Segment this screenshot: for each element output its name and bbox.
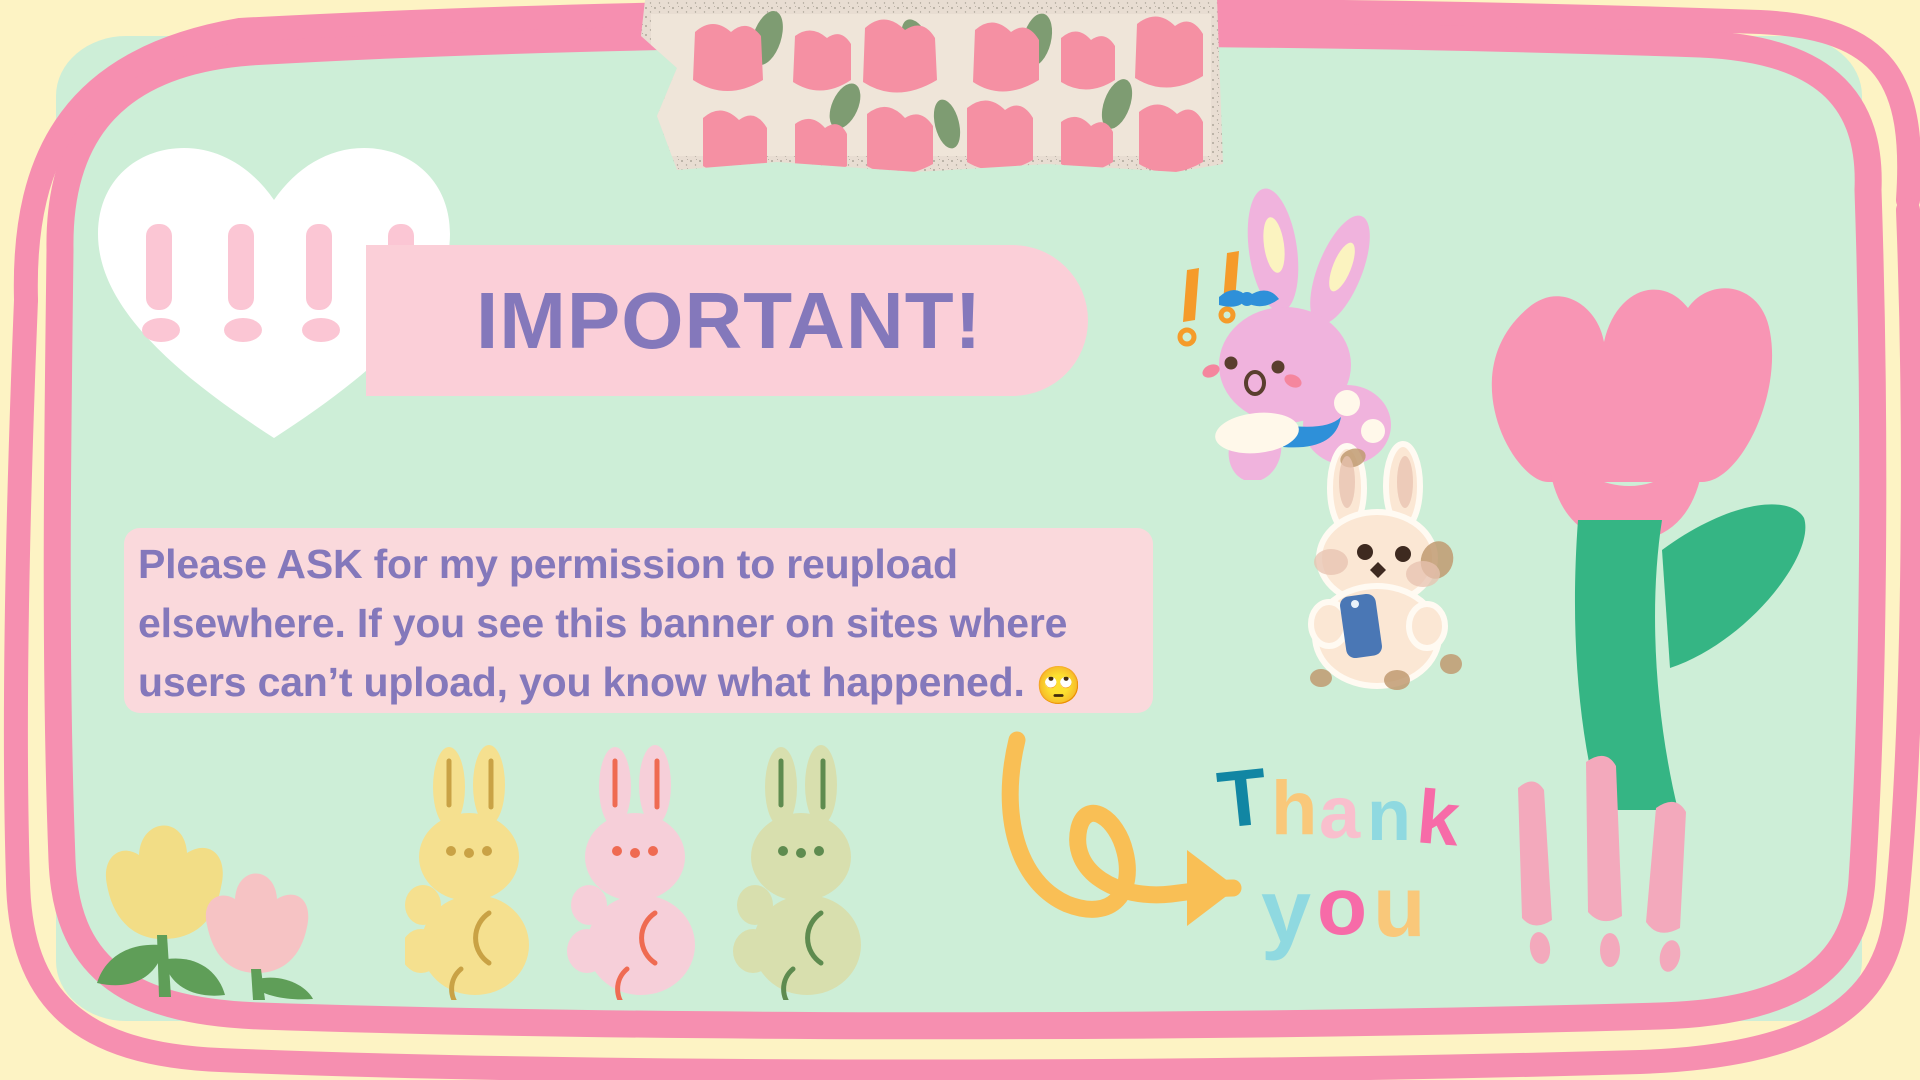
small-tulip-pair <box>95 745 395 1000</box>
ty-letter-h: h <box>1271 766 1317 851</box>
body-line-2: elsewhere. If you see this banner on sit… <box>138 594 1178 653</box>
peep-bunny-yellow <box>405 745 529 1000</box>
body-line-3: users can’t upload, you know what happen… <box>138 653 1178 715</box>
ty-letter-a: a <box>1319 771 1361 854</box>
important-banner: IMPORTANT! Please ASK for my permission … <box>0 0 1920 1080</box>
page-title: IMPORTANT! <box>476 271 1096 371</box>
ty-letter-n: n <box>1367 776 1411 856</box>
pink-exclamation-strokes <box>1490 740 1780 1000</box>
body-line-3-text: users can’t upload, you know what happen… <box>138 659 1025 705</box>
tulip-washi-tape <box>617 0 1241 174</box>
body-line-1: Please ASK for my permission to reupload <box>138 535 1178 594</box>
large-pink-tulip <box>1430 250 1830 810</box>
ty-letter-u: u <box>1373 859 1426 955</box>
peep-bunny-row <box>405 745 935 1000</box>
thank-you-lettering: T h a n k y o u <box>1215 752 1515 967</box>
peep-bunny-pink <box>567 745 695 1000</box>
body-text: Please ASK for my permission to reupload… <box>138 535 1178 715</box>
ty-letter-k: k <box>1414 774 1464 862</box>
ty-letter-T: T <box>1215 752 1272 845</box>
ty-letter-y: y <box>1261 862 1311 962</box>
ty-letter-o: o <box>1317 861 1367 952</box>
peep-bunny-green <box>733 745 861 1000</box>
rolling-eyes-emoji: 🙄 <box>1036 665 1082 706</box>
pink-bunny-with-bow-sticker <box>1135 175 1400 480</box>
